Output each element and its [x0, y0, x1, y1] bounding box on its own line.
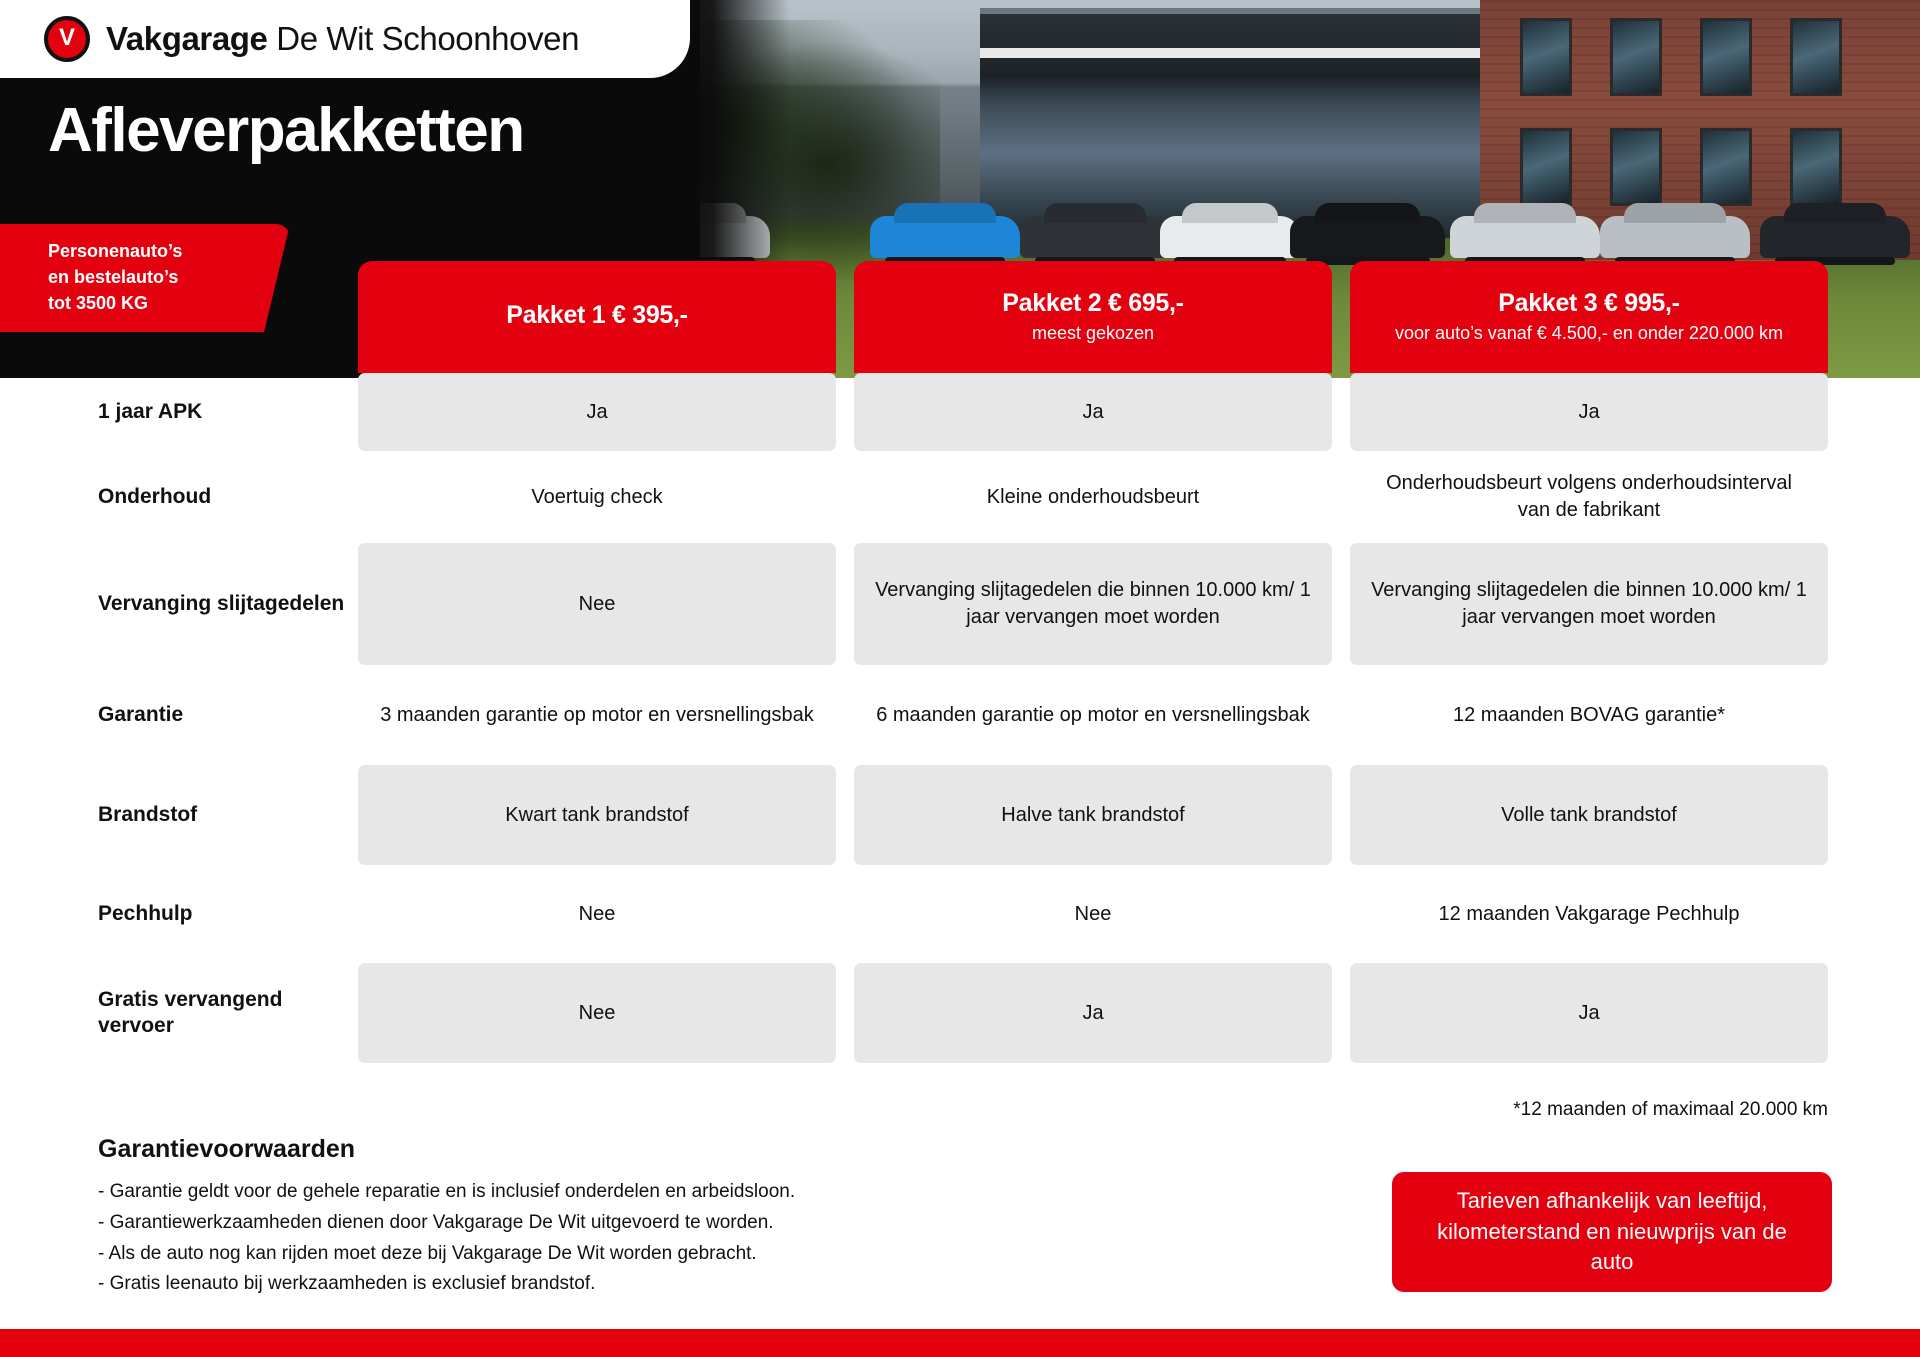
- cell-package-1: Voertuig check: [358, 451, 836, 543]
- terms-heading: Garantievoorwaarden: [98, 1135, 1078, 1164]
- package-card-3[interactable]: Pakket 3 € 995,- voor auto’s vanaf € 4.5…: [1350, 261, 1828, 373]
- row-label: Onderhoud: [0, 451, 358, 543]
- cell-package-2: Kleine onderhoudsbeurt: [854, 451, 1332, 543]
- cell-package-1: 3 maanden garantie op motor en versnelli…: [358, 665, 836, 765]
- list-item: - Gratis leenauto bij werkzaamheden is e…: [98, 1269, 1078, 1300]
- package-3-subtitle: voor auto’s vanaf € 4.500,- en onder 220…: [1395, 322, 1783, 345]
- list-item: - Garantiewerkzaamheden dienen door Vakg…: [98, 1208, 1078, 1239]
- pricing-note-box: Tarieven afhankelijk van leeftijd, kilom…: [1392, 1172, 1832, 1292]
- cell-package-3: 12 maanden BOVAG garantie*: [1350, 665, 1828, 765]
- cell-package-1: Kwart tank brandstof: [358, 765, 836, 865]
- cell-package-2: 6 maanden garantie op motor en versnelli…: [854, 665, 1332, 765]
- brand-logo-tab: V Vakgarage De Wit Schoonhoven: [0, 0, 690, 78]
- cell-package-2: Ja: [854, 373, 1332, 451]
- comparison-table: 1 jaar APK Ja Ja Ja Onderhoud Voertuig c…: [0, 373, 1920, 1063]
- row-label: Vervanging slijtagedelen: [0, 543, 358, 665]
- table-row: Onderhoud Voertuig check Kleine onderhou…: [0, 451, 1920, 543]
- warranty-terms: Garantievoorwaarden - Garantie geldt voo…: [98, 1135, 1078, 1300]
- cell-package-1: Nee: [358, 543, 836, 665]
- cell-package-2: Halve tank brandstof: [854, 765, 1332, 865]
- cell-package-2: Nee: [854, 865, 1332, 963]
- package-header-cards: Pakket 1 € 395,- Pakket 2 € 695,- meest …: [0, 261, 1920, 381]
- table-row: Pechhulp Nee Nee 12 maanden Vakgarage Pe…: [0, 865, 1920, 963]
- warranty-footnote: *12 maanden of maximaal 20.000 km: [1513, 1099, 1828, 1121]
- table-row: Vervanging slijtagedelen Nee Vervanging …: [0, 543, 1920, 665]
- cell-package-3: Volle tank brandstof: [1350, 765, 1828, 865]
- package-card-1[interactable]: Pakket 1 € 395,-: [358, 261, 836, 373]
- row-label: Gratis vervangend vervoer: [0, 963, 358, 1063]
- cell-package-1: Nee: [358, 963, 836, 1063]
- cell-package-2: Ja: [854, 963, 1332, 1063]
- cell-package-1: Nee: [358, 865, 836, 963]
- package-card-2[interactable]: Pakket 2 € 695,- meest gekozen: [854, 261, 1332, 373]
- package-2-title: Pakket 2 € 695,-: [1002, 289, 1183, 318]
- cell-package-3: 12 maanden Vakgarage Pechhulp: [1350, 865, 1828, 963]
- package-2-subtitle: meest gekozen: [1032, 322, 1154, 345]
- cell-package-3: Onderhoudsbeurt volgens onderhoudsinterv…: [1350, 451, 1828, 543]
- list-item: - Als de auto nog kan rijden moet deze b…: [98, 1239, 1078, 1270]
- page-title: Afleverpakketten: [48, 95, 524, 166]
- cell-package-1: Ja: [358, 373, 836, 451]
- cell-package-3: Ja: [1350, 373, 1828, 451]
- row-label: Garantie: [0, 665, 358, 765]
- cell-package-3: Vervanging slijtagedelen die binnen 10.0…: [1350, 543, 1828, 665]
- footer-bar: [0, 1329, 1920, 1357]
- logo-letter: V: [59, 26, 75, 50]
- vakgarage-v-icon: V: [44, 16, 90, 62]
- car-row: [620, 190, 1920, 270]
- table-row: Brandstof Kwart tank brandstof Halve tan…: [0, 765, 1920, 865]
- flyer-page: VAKGARAGE DE WIT SCHOONHOVEN V Vakgarage…: [0, 0, 1920, 1357]
- brand-name-bold: Vakgarage: [106, 20, 268, 57]
- row-label: Pechhulp: [0, 865, 358, 963]
- package-1-title: Pakket 1 € 395,-: [506, 301, 687, 330]
- package-3-title: Pakket 3 € 995,-: [1498, 289, 1679, 318]
- cell-package-3: Ja: [1350, 963, 1828, 1063]
- cell-package-2: Vervanging slijtagedelen die binnen 10.0…: [854, 543, 1332, 665]
- brand-name: Vakgarage De Wit Schoonhoven: [106, 20, 579, 58]
- table-row: 1 jaar APK Ja Ja Ja: [0, 373, 1920, 451]
- row-label: 1 jaar APK: [0, 373, 358, 451]
- brand-name-rest: De Wit Schoonhoven: [268, 20, 580, 57]
- table-row: Gratis vervangend vervoer Nee Ja Ja: [0, 963, 1920, 1063]
- terms-list: - Garantie geldt voor de gehele reparati…: [98, 1177, 1078, 1300]
- list-item: - Garantie geldt voor de gehele reparati…: [98, 1177, 1078, 1208]
- row-label: Brandstof: [0, 765, 358, 865]
- table-row: Garantie 3 maanden garantie op motor en …: [0, 665, 1920, 765]
